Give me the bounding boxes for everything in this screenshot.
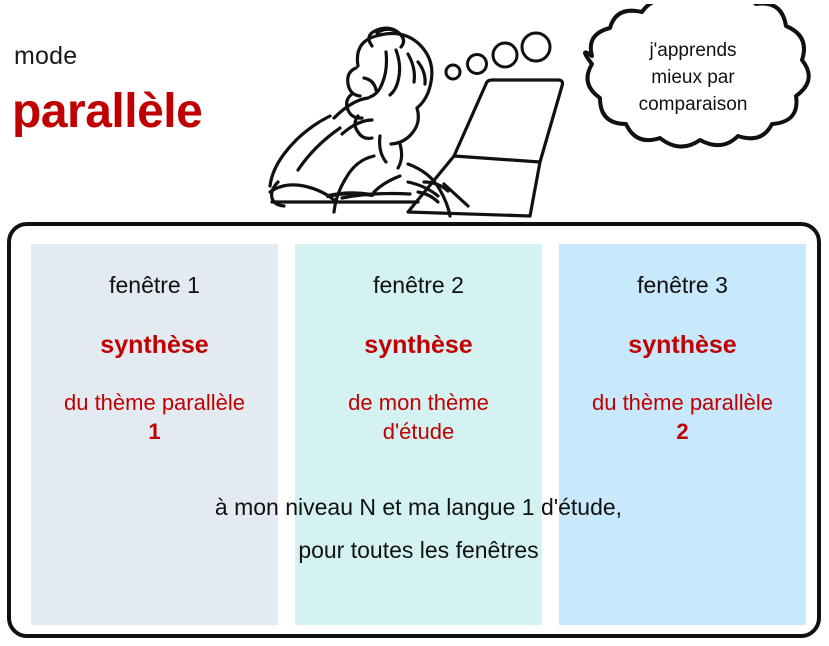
panel-detail-line-2a: de mon thème xyxy=(299,388,538,417)
mode-label: mode xyxy=(14,44,77,69)
header-area: mode parallèle xyxy=(0,0,829,222)
synthese-label-2: synthèse xyxy=(295,333,542,358)
panel-detail-line-1a: du thème parallèle xyxy=(35,388,274,417)
window-panel-3[interactable]: fenêtre 3 synthèse du thème parallèle 2 xyxy=(559,244,806,625)
thought-dot-1 xyxy=(446,65,460,79)
panel-detail-line-3b: 2 xyxy=(563,417,802,446)
synthese-label-1: synthèse xyxy=(31,333,278,358)
panel-detail-line-3a: du thème parallèle xyxy=(563,388,802,417)
window-label-2: fenêtre 2 xyxy=(295,274,542,297)
window-label-1: fenêtre 1 xyxy=(31,274,278,297)
window-panel-1[interactable]: fenêtre 1 synthèse du thème parallèle 1 xyxy=(31,244,278,625)
thought-bubble-line-2: mieux par xyxy=(598,65,788,92)
panel-detail-1: du thème parallèle 1 xyxy=(31,388,278,446)
thought-bubble-line-3: comparaison xyxy=(598,92,788,119)
thought-bubble-text: j'apprends mieux par comparaison xyxy=(598,38,788,119)
thought-dot-4 xyxy=(522,33,550,61)
thought-bubble-line-1: j'apprends xyxy=(598,38,788,65)
panel-detail-3: du thème parallèle 2 xyxy=(559,388,806,446)
window-label-3: fenêtre 3 xyxy=(559,274,806,297)
thought-dot-3 xyxy=(493,43,517,67)
panel-detail-line-2b: d'étude xyxy=(299,417,538,446)
panels-row: fenêtre 1 synthèse du thème parallèle 1 … xyxy=(31,244,806,625)
window-panel-2[interactable]: fenêtre 2 synthèse de mon thème d'étude xyxy=(295,244,542,625)
synthese-label-3: synthèse xyxy=(559,333,806,358)
panel-detail-2: de mon thème d'étude xyxy=(295,388,542,446)
thought-dots xyxy=(440,18,560,88)
windows-frame: fenêtre 1 synthèse du thème parallèle 1 … xyxy=(7,222,821,638)
thought-dot-2 xyxy=(468,55,487,74)
panel-detail-line-1b: 1 xyxy=(35,417,274,446)
thought-bubble: j'apprends mieux par comparaison xyxy=(558,4,826,170)
page-title: parallèle xyxy=(12,88,202,136)
